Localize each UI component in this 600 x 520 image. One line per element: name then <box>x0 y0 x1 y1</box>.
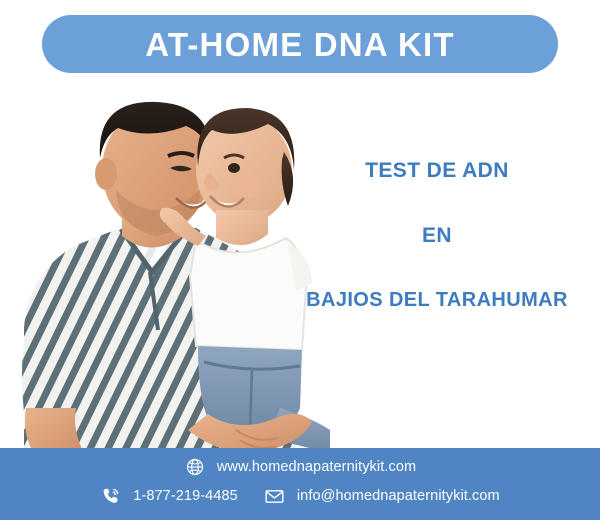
page-title: AT-HOME DNA KIT <box>145 28 454 61</box>
poster-root: AT-HOME DNA KIT <box>0 0 600 520</box>
footer-row-phone-email: 1-877-219-4485 info@homednapaternitykit.… <box>0 485 600 507</box>
header-banner: AT-HOME DNA KIT <box>42 15 558 73</box>
website-label: www.homednapaternitykit.com <box>217 459 416 475</box>
phone-label: 1-877-219-4485 <box>133 488 238 504</box>
footer-row-website: www.homednapaternitykit.com <box>0 456 600 478</box>
email-label: info@homednapaternitykit.com <box>297 488 500 504</box>
headline-line-1: TEST DE ADN <box>278 160 596 181</box>
headline-line-3: BAJIOS DEL TARAHUMAR <box>278 290 596 310</box>
headline-block: TEST DE ADN EN BAJIOS DEL TARAHUMAR <box>278 160 596 310</box>
phone-contact-item[interactable]: 1-877-219-4485 <box>100 485 238 507</box>
email-contact-item[interactable]: info@homednapaternitykit.com <box>264 485 500 507</box>
envelope-icon <box>264 485 286 507</box>
headline-line-2: EN <box>278 225 596 246</box>
globe-icon <box>184 456 206 478</box>
phone-icon <box>100 485 122 507</box>
website-contact-item[interactable]: www.homednapaternitykit.com <box>184 456 416 478</box>
footer-contact-bar: www.homednapaternitykit.com 1-877-219-44… <box>0 448 600 520</box>
